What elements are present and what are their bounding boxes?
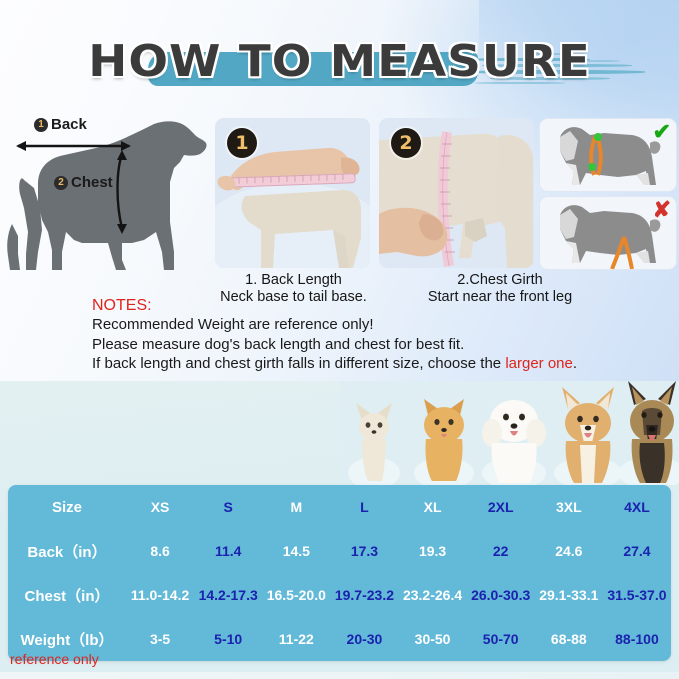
table-row-chest: Chest（in） 11.0-14.2 14.2-17.3 16.5-20.0 … [8, 573, 671, 617]
correct-fit-photo: ✔ [539, 118, 677, 192]
size-xs: XS [126, 499, 194, 515]
caption-back-length-title: 1. Back Length [206, 272, 381, 289]
notes-block: NOTES: Recommended Weight are reference … [92, 296, 632, 374]
back-2xl: 22 [467, 543, 535, 559]
back-xs: 8.6 [126, 543, 194, 559]
chest-2xl: 26.0-30.3 [467, 587, 535, 603]
back-length-photo: 1 [215, 118, 370, 268]
notes-line-3-highlight: larger one [505, 355, 573, 372]
back-m: 14.5 [262, 543, 330, 559]
notes-line-2: Please measure dog's back length and che… [92, 335, 632, 355]
size-l: L [330, 499, 398, 515]
notes-title: NOTES: [92, 296, 632, 315]
back-xl: 19.3 [399, 543, 467, 559]
title-banner: HOW TO MEASURE [0, 36, 679, 102]
weight-3xl: 68-88 [535, 631, 603, 647]
notes-line-1: Recommended Weight are reference only! [92, 315, 632, 335]
dog-silhouette-diagram: 1Back 2Chest [4, 112, 212, 277]
chest-xl: 23.2-26.4 [399, 587, 467, 603]
size-3xl: 3XL [535, 499, 603, 515]
weight-2xl: 50-70 [467, 631, 535, 647]
size-s: S [194, 499, 262, 515]
weight-m: 11-22 [262, 631, 330, 647]
cross-icon: ✘ [653, 199, 671, 221]
chest-m: 16.5-20.0 [262, 587, 330, 603]
chest-3xl: 29.1-33.1 [535, 587, 603, 603]
chest-number-badge: 2 [54, 176, 68, 190]
back-3xl: 24.6 [535, 543, 603, 559]
chest-xs: 11.0-14.2 [126, 587, 194, 603]
silhouette-svg [4, 112, 212, 277]
size-2xl: 2XL [467, 499, 535, 515]
weight-s: 5-10 [194, 631, 262, 647]
weight-xs: 3-5 [126, 631, 194, 647]
weight-4xl: 88-100 [603, 631, 671, 647]
table-row-weight: Weight（lb） 3-5 5-10 11-22 20-30 30-50 50… [8, 617, 671, 661]
weight-l: 20-30 [330, 631, 398, 647]
table-row-back: Back（in） 8.6 11.4 14.5 17.3 19.3 22 24.6… [8, 529, 671, 573]
row-label-weight: Weight（lb） [8, 629, 126, 650]
size-chart-infographic: HOW TO MEASURE 1Back 2Chest [0, 0, 679, 679]
notes-line-3: If back length and chest girth falls in … [92, 354, 632, 374]
page-title: HOW TO MEASURE [0, 36, 679, 87]
size-xl: XL [399, 499, 467, 515]
table-row-size: Size XS S M L XL 2XL 3XL 4XL [8, 485, 671, 529]
chest-s: 14.2-17.3 [194, 587, 262, 603]
back-l: 17.3 [330, 543, 398, 559]
notes-line-3-before: If back length and chest girth falls in … [92, 355, 505, 372]
size-4xl: 4XL [603, 499, 671, 515]
size-m: M [262, 499, 330, 515]
bottom-section: Size XS S M L XL 2XL 3XL 4XL Back（in） 8.… [0, 381, 679, 679]
back-measure-label: 1Back [34, 116, 87, 133]
chest-4xl: 31.5-37.0 [603, 587, 671, 603]
row-label-chest: Chest（in） [8, 585, 126, 606]
step-2-badge: 2 [391, 128, 421, 158]
table-footnote: reference only [10, 651, 99, 667]
back-label-text: Back [51, 116, 87, 133]
step-1-badge: 1 [227, 128, 257, 158]
chest-l: 19.7-23.2 [330, 587, 398, 603]
bottom-strip [0, 672, 679, 679]
chest-label-text: Chest [71, 174, 113, 191]
notes-line-3-after: . [573, 355, 577, 372]
back-number-badge: 1 [34, 118, 48, 132]
caption-chest-girth-title: 2.Chest Girth [400, 272, 600, 289]
chest-measure-label: 2Chest [54, 174, 113, 191]
dog-breed-photos [340, 381, 679, 485]
row-label-back: Back（in） [8, 541, 126, 562]
incorrect-fit-photo: ✘ [539, 196, 677, 270]
back-4xl: 27.4 [603, 543, 671, 559]
check-icon: ✔ [653, 121, 671, 143]
top-section: HOW TO MEASURE 1Back 2Chest [0, 0, 679, 381]
row-label-size: Size [8, 499, 126, 516]
weight-xl: 30-50 [399, 631, 467, 647]
size-table: Size XS S M L XL 2XL 3XL 4XL Back（in） 8.… [8, 485, 671, 661]
back-s: 11.4 [194, 543, 262, 559]
chest-girth-photo: 2 [379, 118, 534, 268]
